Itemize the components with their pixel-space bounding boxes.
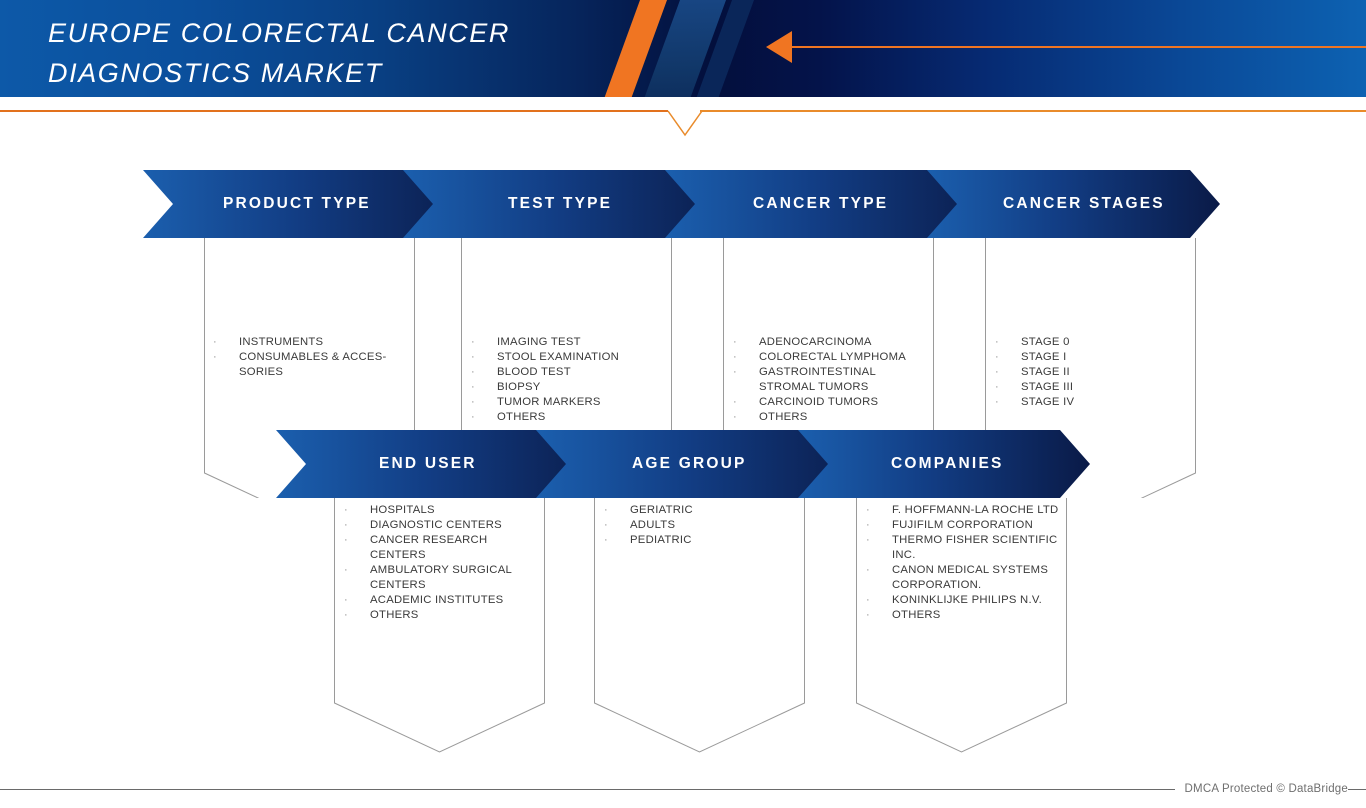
bullet-icon: · <box>995 335 999 350</box>
bullet-icon: · <box>866 533 870 548</box>
list-item-label: CANCER RESEARCH CENTERS <box>370 534 487 561</box>
list-item: ·CONSUMABLES & ACCES-SORIES <box>211 350 411 380</box>
list-item-label: STAGE III <box>1021 381 1073 393</box>
bullet-icon: · <box>344 503 348 518</box>
list-item: ·ACADEMIC INSTITUTES <box>342 593 542 608</box>
segment-list-companies: ·F. HOFFMANN-LA ROCHE LTD ·FUJIFILM CORP… <box>864 503 1064 623</box>
segment-list-cancer-type: ·ADENOCARCINOMA ·COLORECTAL LYMPHOMA ·GA… <box>731 335 931 425</box>
bullet-icon: · <box>733 365 737 380</box>
list-item-label: GASTROINTESTINAL STROMAL TUMORS <box>759 366 876 393</box>
list-item-label: HOSPITALS <box>370 504 435 516</box>
list-item: ·STAGE II <box>993 365 1183 380</box>
list-item-label: CANON MEDICAL SYSTEMS CORPORATION. <box>892 564 1048 591</box>
list-item: ·THERMO FISHER SCIENTIFIC INC. <box>864 533 1064 563</box>
list-item-label: OTHERS <box>497 411 546 423</box>
bullet-icon: · <box>866 593 870 608</box>
list-item-label: KONINKLIJKE PHILIPS N.V. <box>892 594 1042 606</box>
list-item-label: IMAGING TEST <box>497 336 581 348</box>
list-item-label: CARCINOID TUMORS <box>759 396 878 408</box>
list-item: ·GERIATRIC <box>602 503 797 518</box>
list-item-label: STOOL EXAMINATION <box>497 351 619 363</box>
bullet-icon: · <box>604 503 608 518</box>
bullet-icon: · <box>995 395 999 410</box>
bullet-icon: · <box>344 518 348 533</box>
bullet-icon: · <box>471 410 475 425</box>
list-item: ·BIOPSY <box>469 380 674 395</box>
bullet-icon: · <box>344 608 348 623</box>
bullet-icon: · <box>604 518 608 533</box>
bullet-icon: · <box>213 350 217 365</box>
page-header: EUROPE COLORECTAL CANCER DIAGNOSTICS MAR… <box>0 0 1366 97</box>
list-item-label: AMBULATORY SURGICAL CENTERS <box>370 564 512 591</box>
list-item-label: OTHERS <box>759 411 808 423</box>
bullet-icon: · <box>344 593 348 608</box>
list-item: ·PEDIATRIC <box>602 533 797 548</box>
segment-list-age-group: ·GERIATRIC ·ADULTS ·PEDIATRIC <box>602 503 797 548</box>
segment-label-age-group: AGE GROUP <box>632 430 747 498</box>
list-item-label: STAGE IV <box>1021 396 1074 408</box>
list-item-label: OTHERS <box>892 609 941 621</box>
bullet-icon: · <box>471 395 475 410</box>
list-item: ·OTHERS <box>864 608 1064 623</box>
segment-list-product-type: ·INSTRUMENTS ·CONSUMABLES & ACCES-SORIES <box>211 335 411 380</box>
v-notch-icon <box>660 106 710 140</box>
list-item-label: INSTRUMENTS <box>239 336 323 348</box>
segment-label-cancer-stages: CANCER STAGES <box>1003 170 1165 238</box>
segment-label-product-type: PRODUCT TYPE <box>223 170 371 238</box>
segment-list-test-type: ·IMAGING TEST ·STOOL EXAMINATION ·BLOOD … <box>469 335 674 425</box>
list-item: ·OTHERS <box>469 410 674 425</box>
list-item: ·CANCER RESEARCH CENTERS <box>342 533 542 563</box>
list-item-label: ADENOCARCINOMA <box>759 336 872 348</box>
list-item: ·OTHERS <box>731 410 931 425</box>
footer-divider <box>0 789 1366 790</box>
bullet-icon: · <box>866 563 870 578</box>
list-item-label: GERIATRIC <box>630 504 693 516</box>
list-item-label: STAGE 0 <box>1021 336 1070 348</box>
bullet-icon: · <box>866 518 870 533</box>
list-item: ·STAGE IV <box>993 395 1183 410</box>
list-item: ·OTHERS <box>342 608 542 623</box>
bullet-icon: · <box>733 395 737 410</box>
list-item: ·STOOL EXAMINATION <box>469 350 674 365</box>
list-item-label: THERMO FISHER SCIENTIFIC INC. <box>892 534 1057 561</box>
segment-list-cancer-stages: ·STAGE 0 ·STAGE I ·STAGE II ·STAGE III ·… <box>993 335 1183 410</box>
bullet-icon: · <box>471 365 475 380</box>
list-item: ·CANON MEDICAL SYSTEMS CORPORATION. <box>864 563 1064 593</box>
list-item-label: OTHERS <box>370 609 419 621</box>
list-item-label: BIOPSY <box>497 381 541 393</box>
list-item: ·ADULTS <box>602 518 797 533</box>
list-item-label: FUJIFILM CORPORATION <box>892 519 1033 531</box>
list-item: ·AMBULATORY SURGICAL CENTERS <box>342 563 542 593</box>
list-item: ·HOSPITALS <box>342 503 542 518</box>
list-item-label: STAGE I <box>1021 351 1066 363</box>
bullet-icon: · <box>471 350 475 365</box>
list-item-label: BLOOD TEST <box>497 366 571 378</box>
segment-label-cancer-type: CANCER TYPE <box>753 170 888 238</box>
segment-label-companies: COMPANIES <box>891 430 1004 498</box>
list-item: ·KONINKLIJKE PHILIPS N.V. <box>864 593 1064 608</box>
segment-label-end-user: END USER <box>379 430 477 498</box>
bullet-icon: · <box>733 335 737 350</box>
footer-copyright: DMCA Protected © DataBridge <box>1175 783 1348 795</box>
list-item-label: ACADEMIC INSTITUTES <box>370 594 503 606</box>
list-item-label: DIAGNOSTIC CENTERS <box>370 519 502 531</box>
list-item: ·TUMOR MARKERS <box>469 395 674 410</box>
list-item: ·IMAGING TEST <box>469 335 674 350</box>
bullet-icon: · <box>471 335 475 350</box>
header-underline-left <box>0 110 668 112</box>
header-underline-right <box>700 110 1366 112</box>
list-item-label: CONSUMABLES & ACCES-SORIES <box>239 351 387 378</box>
list-item-label: PEDIATRIC <box>630 534 692 546</box>
list-item-label: ADULTS <box>630 519 675 531</box>
bullet-icon: · <box>866 608 870 623</box>
list-item: ·STAGE I <box>993 350 1183 365</box>
bullet-icon: · <box>471 380 475 395</box>
bullet-icon: · <box>866 503 870 518</box>
segment-list-end-user: ·HOSPITALS ·DIAGNOSTIC CENTERS ·CANCER R… <box>342 503 542 623</box>
list-item: ·FUJIFILM CORPORATION <box>864 518 1064 533</box>
list-item: ·GASTROINTESTINAL STROMAL TUMORS <box>731 365 931 395</box>
list-item: ·INSTRUMENTS <box>211 335 411 350</box>
bullet-icon: · <box>213 335 217 350</box>
list-item: ·DIAGNOSTIC CENTERS <box>342 518 542 533</box>
bullet-icon: · <box>733 410 737 425</box>
list-item: ·CARCINOID TUMORS <box>731 395 931 410</box>
header-accent-rule <box>791 46 1366 48</box>
bullet-icon: · <box>604 533 608 548</box>
bullet-icon: · <box>995 350 999 365</box>
list-item: ·ADENOCARCINOMA <box>731 335 931 350</box>
list-item: ·BLOOD TEST <box>469 365 674 380</box>
list-item: ·STAGE III <box>993 380 1183 395</box>
segment-label-test-type: TEST TYPE <box>508 170 612 238</box>
bullet-icon: · <box>344 533 348 548</box>
list-item: ·F. HOFFMANN-LA ROCHE LTD <box>864 503 1064 518</box>
list-item-label: COLORECTAL LYMPHOMA <box>759 351 906 363</box>
left-arrow-icon <box>766 31 792 63</box>
bullet-icon: · <box>733 350 737 365</box>
list-item-label: TUMOR MARKERS <box>497 396 601 408</box>
bullet-icon: · <box>995 365 999 380</box>
list-item: ·COLORECTAL LYMPHOMA <box>731 350 931 365</box>
bullet-icon: · <box>344 563 348 578</box>
list-item: ·STAGE 0 <box>993 335 1183 350</box>
bullet-icon: · <box>995 380 999 395</box>
list-item-label: STAGE II <box>1021 366 1070 378</box>
page-title: EUROPE COLORECTAL CANCER DIAGNOSTICS MAR… <box>48 13 510 93</box>
list-item-label: F. HOFFMANN-LA ROCHE LTD <box>892 504 1058 516</box>
